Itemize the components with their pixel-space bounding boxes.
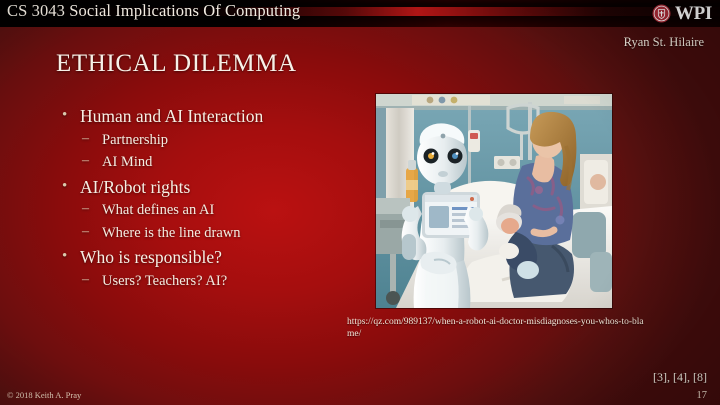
dash-icon: – [82,132,89,146]
sub-bullet-label: Partnership [102,132,168,148]
sub-bullet-item: – AI Mind [58,155,358,170]
copyright-notice: © 2018 Keith A. Pray [7,390,81,400]
bullet-label: Human and AI Interaction [80,106,263,126]
bullet-group: • AI/Robot rights – What defines an AI –… [58,179,358,241]
sub-bullet-item: – Partnership [58,133,358,148]
wpi-logo: WPI [652,1,712,26]
slide-header-bar: CS 3043 Social Implications Of Computing… [0,0,720,27]
bullet-group: • Who is responsible? – Users? Teachers?… [58,249,358,288]
bullet-dot-icon: • [62,179,67,194]
dash-icon: – [82,273,89,287]
sub-bullet-label: Where is the line drawn [102,225,241,241]
presentation-slide: CS 3043 Social Implications Of Computing… [0,0,720,405]
bullet-label: AI/Robot rights [80,177,190,197]
bullet-item: • AI/Robot rights [58,179,358,197]
reference-citations: [3], [4], [8] [653,370,707,385]
presenter-name: Ryan St. Hilaire [624,35,704,50]
sub-bullet-label: AI Mind [102,154,152,170]
sub-bullet-item: – Where is the line drawn [58,226,358,241]
bullet-group: • Human and AI Interaction – Partnership… [58,108,358,170]
sub-bullet-label: Users? Teachers? AI? [102,273,227,289]
dash-icon: – [82,202,89,216]
hospital-robot-photo [376,94,612,308]
dash-icon: – [82,154,89,168]
bullet-dot-icon: • [62,108,67,123]
sub-bullet-label: What defines an AI [102,202,214,218]
hospital-robot-photo-illustration [376,94,612,308]
course-title: CS 3043 Social Implications Of Computing [7,1,300,21]
slide-title: ETHICAL DILEMMA [56,50,297,78]
sub-bullet-item: – Users? Teachers? AI? [58,274,358,289]
slide-number: 17 [697,390,708,401]
bullet-list: • Human and AI Interaction – Partnership… [58,108,358,296]
sub-bullet-item: – What defines an AI [58,203,358,218]
wpi-logo-text: WPI [675,4,712,23]
wpi-crest-icon [652,4,671,23]
dash-icon: – [82,225,89,239]
bullet-dot-icon: • [62,249,67,264]
bullet-item: • Who is responsible? [58,249,358,267]
bullet-label: Who is responsible? [80,247,222,267]
bullet-item: • Human and AI Interaction [58,108,358,126]
photo-source-caption: https://qz.com/989137/when-a-robot-ai-do… [347,317,647,341]
